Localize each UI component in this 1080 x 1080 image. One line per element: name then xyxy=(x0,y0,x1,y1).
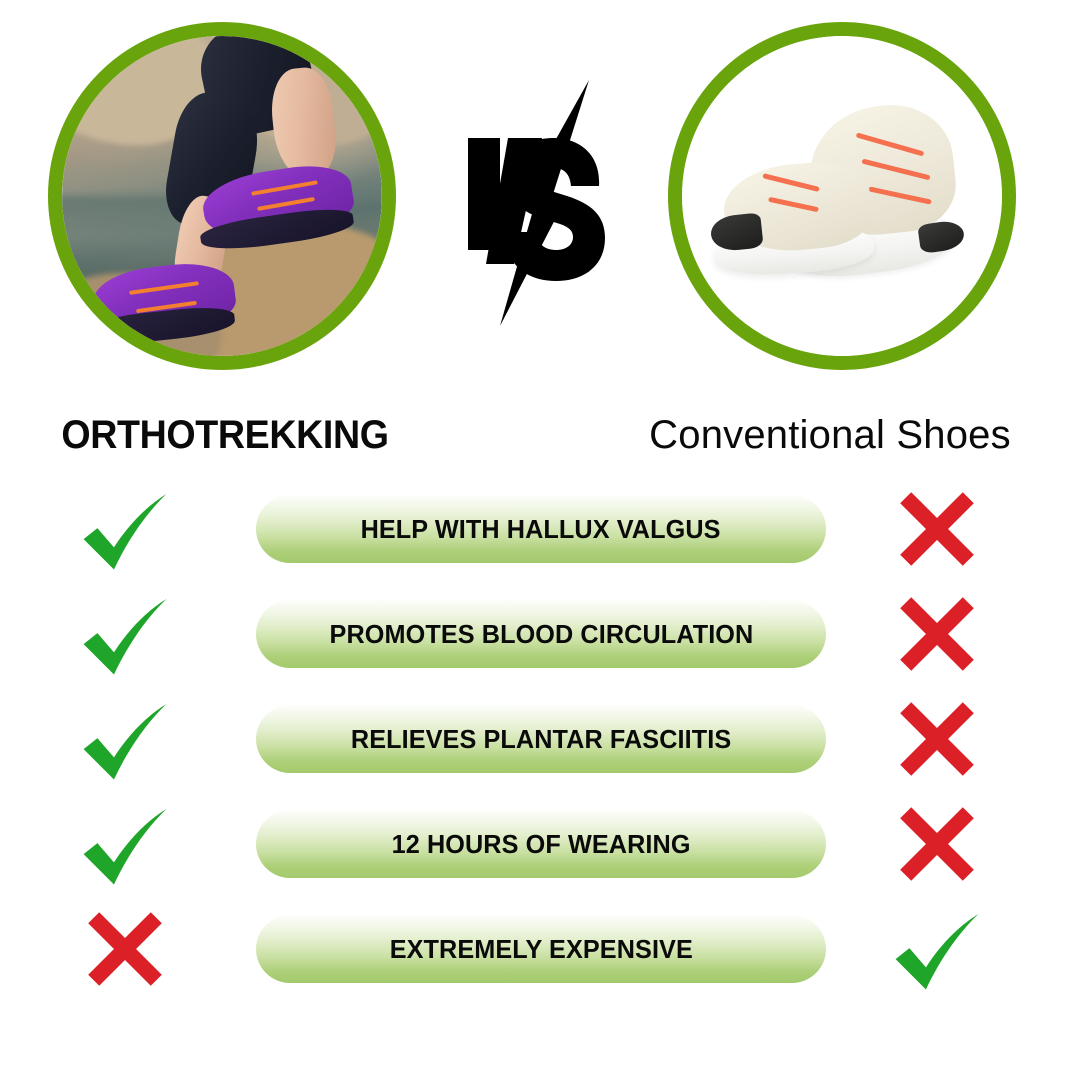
feature-pill: EXTREMELY EXPENSIVE xyxy=(256,915,826,983)
comparison-row: RELIEVES PLANTAR FASCIITIS xyxy=(0,705,1080,773)
comparison-row: EXTREMELY EXPENSIVE xyxy=(0,915,1080,983)
comparison-rows: HELP WITH HALLUX VALGUSPROMOTES BLOOD CI… xyxy=(0,495,1080,1020)
check-icon-left xyxy=(79,588,171,680)
feature-pill: HELP WITH HALLUX VALGUS xyxy=(256,495,826,563)
versus-lightning-icon xyxy=(456,78,632,328)
product-photo-right-frame xyxy=(668,22,1016,370)
cross-icon-left xyxy=(79,903,171,995)
feature-pill-label: 12 HOURS OF WEARING xyxy=(392,829,691,860)
feature-pill: PROMOTES BLOOD CIRCULATION xyxy=(256,600,826,668)
cross-icon-right xyxy=(891,693,983,785)
feature-pill: RELIEVES PLANTAR FASCIITIS xyxy=(256,705,826,773)
feature-pill: 12 HOURS OF WEARING xyxy=(256,810,826,878)
check-icon-left xyxy=(79,798,171,890)
feature-pill-label: RELIEVES PLANTAR FASCIITIS xyxy=(351,724,731,755)
column-title-conventional: Conventional Shoes xyxy=(620,410,1040,460)
comparison-row: HELP WITH HALLUX VALGUS xyxy=(0,495,1080,563)
feature-pill-label: PROMOTES BLOOD CIRCULATION xyxy=(329,619,753,650)
check-icon-left xyxy=(79,483,171,575)
comparison-row: 12 HOURS OF WEARING xyxy=(0,810,1080,878)
product-photo-left-frame xyxy=(48,22,396,370)
product-photo-right xyxy=(682,36,1002,356)
product-photo-left xyxy=(62,36,382,356)
hero-section xyxy=(0,0,1080,400)
column-title-orthotrekking: ORTHOTREKKING xyxy=(14,410,437,460)
feature-pill-label: HELP WITH HALLUX VALGUS xyxy=(361,514,721,545)
cross-icon-right xyxy=(891,588,983,680)
feature-pill-label: EXTREMELY EXPENSIVE xyxy=(389,934,692,965)
comparison-row: PROMOTES BLOOD CIRCULATION xyxy=(0,600,1080,668)
cross-icon-right xyxy=(891,798,983,890)
cross-icon-right xyxy=(891,483,983,575)
check-icon-right xyxy=(891,903,983,995)
check-icon-left xyxy=(79,693,171,785)
